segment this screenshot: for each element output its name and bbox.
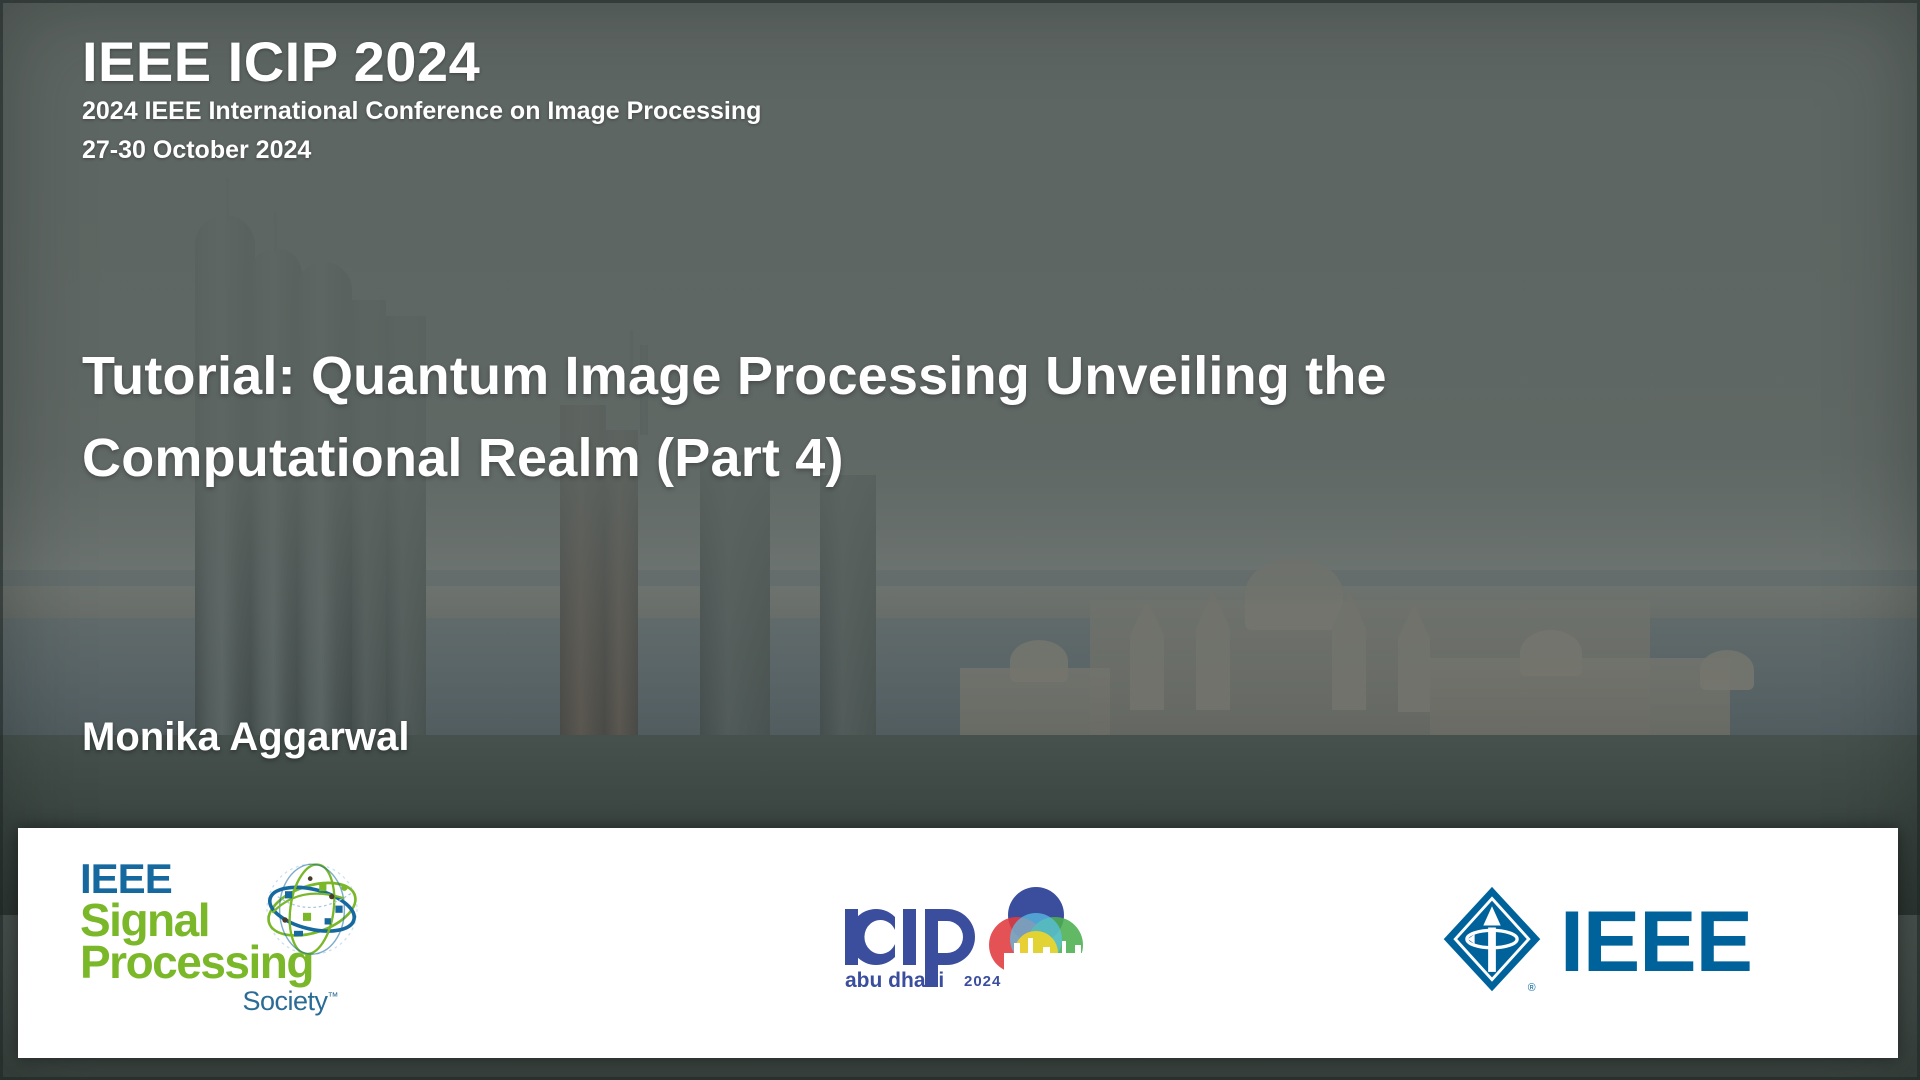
sps-logo-slot: IEEE Signal Processing Society™ xyxy=(18,853,686,1033)
conference-header: IEEE ICIP 2024 2024 IEEE International C… xyxy=(82,33,761,169)
icip-abu-dhabi-2024-logo: abu dhabi 2024 xyxy=(839,883,1139,1003)
conference-title-slide: IEEE ICIP 2024 2024 IEEE International C… xyxy=(0,0,1920,1080)
ieee-registered-icon: ® xyxy=(1528,982,1536,994)
conference-subtitle: 2024 IEEE International Conference on Im… xyxy=(82,92,761,131)
page-title: Tutorial: Quantum Image Processing Unvei… xyxy=(82,335,1622,499)
presenter-name: Monika Aggarwal xyxy=(82,715,409,760)
sps-network-globe-icon xyxy=(258,857,366,970)
sps-society-label: Society xyxy=(242,986,327,1016)
conference-title: IEEE ICIP 2024 xyxy=(82,33,761,92)
icip-year-text: 2024 xyxy=(964,973,1001,990)
ieee-diamond-icon: ® xyxy=(1438,885,1546,1002)
icip-city-text: abu dhabi xyxy=(845,969,944,992)
sponsor-logo-bar: IEEE Signal Processing Society™ xyxy=(18,828,1898,1058)
sps-trademark-icon: ™ xyxy=(328,991,339,1003)
ieee-logo-slot: ® IEEE xyxy=(1292,885,1898,1002)
conference-dates: 27-30 October 2024 xyxy=(82,131,761,170)
icip-logo-slot: abu dhabi 2024 xyxy=(686,883,1292,1003)
ieee-signal-processing-society-logo: IEEE Signal Processing Society™ xyxy=(80,853,360,1033)
sps-society-text: Society™ xyxy=(80,986,338,1017)
ieee-master-brand-logo: ® IEEE xyxy=(1438,885,1752,1002)
ieee-wordmark: IEEE xyxy=(1560,904,1752,981)
